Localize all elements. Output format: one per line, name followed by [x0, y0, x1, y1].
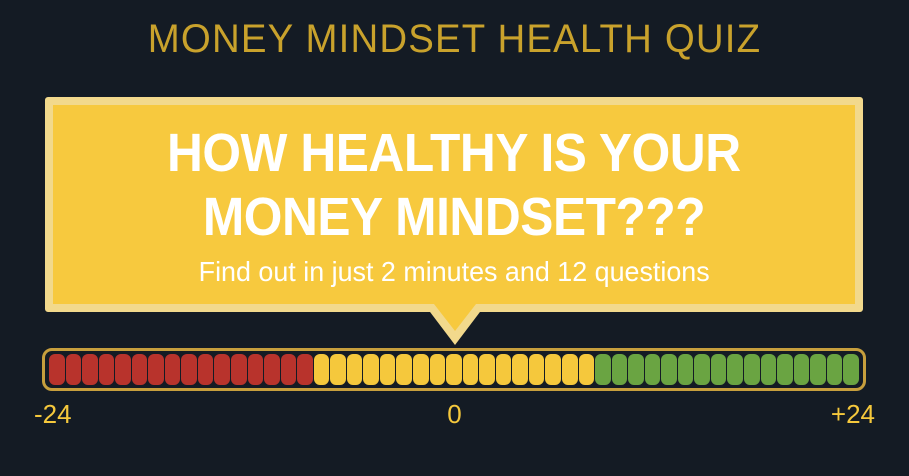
scale-segment: [214, 354, 230, 385]
scale-segment: [430, 354, 446, 385]
scale-segment: [330, 354, 346, 385]
headline-banner-content: HOW HEALTHY IS YOUR MONEY MINDSET??? Fin…: [53, 105, 855, 304]
scale-label-max: +24: [831, 398, 875, 430]
speech-bubble-tail: [434, 304, 476, 331]
scale-segment: [66, 354, 82, 385]
scale-segment: [363, 354, 379, 385]
scale-segment: [595, 354, 611, 385]
scale-segment: [314, 354, 330, 385]
scale-segment: [198, 354, 214, 385]
scale-segment: [380, 354, 396, 385]
headline-subtitle: Find out in just 2 minutes and 12 questi…: [198, 255, 709, 289]
scale-segment: [727, 354, 743, 385]
scale-segment: [49, 354, 65, 385]
scale-segment: [99, 354, 115, 385]
scale-segment: [678, 354, 694, 385]
scale-segment: [529, 354, 545, 385]
headline-banner: HOW HEALTHY IS YOUR MONEY MINDSET??? Fin…: [45, 97, 863, 312]
scale-segment: [761, 354, 777, 385]
scale-segment: [827, 354, 843, 385]
scale-segment: [463, 354, 479, 385]
scale-axis-labels: -24 0 +24: [30, 398, 879, 432]
headline-line-2: MONEY MINDSET???: [203, 185, 705, 249]
scale-segment: [82, 354, 98, 385]
scale-segment: [512, 354, 528, 385]
scale-segment: [297, 354, 313, 385]
scale-segment: [744, 354, 760, 385]
scale-label-mid: 0: [30, 398, 879, 430]
scale-segment: [264, 354, 280, 385]
scale-segment: [661, 354, 677, 385]
score-scale-bar: [42, 348, 866, 391]
scale-segment: [545, 354, 561, 385]
scale-segment: [628, 354, 644, 385]
quiz-landing-canvas: MONEY MINDSET HEALTH QUIZ HOW HEALTHY IS…: [0, 0, 909, 476]
scale-segment: [694, 354, 710, 385]
scale-segment: [612, 354, 628, 385]
scale-segment: [115, 354, 131, 385]
scale-segment: [496, 354, 512, 385]
scale-segment: [281, 354, 297, 385]
scale-segment: [562, 354, 578, 385]
scale-segment: [347, 354, 363, 385]
scale-segment: [777, 354, 793, 385]
scale-segment: [843, 354, 859, 385]
scale-segment: [413, 354, 429, 385]
scale-segment: [794, 354, 810, 385]
scale-segment: [446, 354, 462, 385]
scale-segment: [165, 354, 181, 385]
scale-segment: [645, 354, 661, 385]
scale-segment: [248, 354, 264, 385]
page-title: MONEY MINDSET HEALTH QUIZ: [18, 16, 891, 62]
scale-segment: [396, 354, 412, 385]
headline-line-1: HOW HEALTHY IS YOUR: [167, 121, 741, 185]
scale-segment: [479, 354, 495, 385]
scale-segment: [148, 354, 164, 385]
scale-segment: [810, 354, 826, 385]
scale-segment: [711, 354, 727, 385]
scale-segment: [132, 354, 148, 385]
scale-segment: [181, 354, 197, 385]
scale-segment: [579, 354, 595, 385]
scale-segment: [231, 354, 247, 385]
